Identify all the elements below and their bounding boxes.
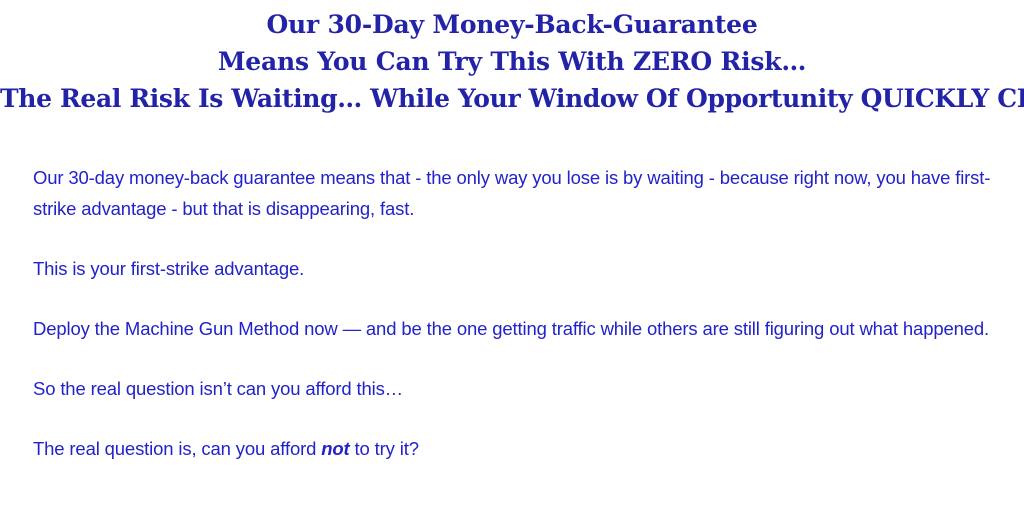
closing-question-paragraph: The real question is, can you afford not…	[33, 433, 995, 464]
headline-line-3: The Real Risk Is Waiting… While Your Win…	[0, 80, 1024, 117]
first-strike-paragraph: This is your first-strike advantage.	[33, 253, 995, 284]
guarantee-paragraph: Our 30-day money-back guarantee means th…	[33, 162, 995, 224]
afford-question-paragraph: So the real question isn’t can you affor…	[33, 373, 995, 404]
sales-page-guarantee-section: Our 30-Day Money-Back-Guarantee Means Yo…	[0, 0, 1024, 521]
deploy-paragraph: Deploy the Machine Gun Method now — and …	[33, 313, 995, 344]
closing-question-prefix: The real question is, can you afford	[33, 438, 321, 459]
headline-line-2: Means You Can Try This With ZERO Risk…	[0, 43, 1024, 80]
headline-block: Our 30-Day Money-Back-Guarantee Means Yo…	[0, 6, 1024, 117]
body-copy-block: Our 30-day money-back guarantee means th…	[33, 162, 995, 464]
closing-question-suffix: to try it?	[350, 438, 419, 459]
headline-line-1: Our 30-Day Money-Back-Guarantee	[0, 6, 1024, 43]
closing-question-emphasis: not	[321, 438, 349, 459]
